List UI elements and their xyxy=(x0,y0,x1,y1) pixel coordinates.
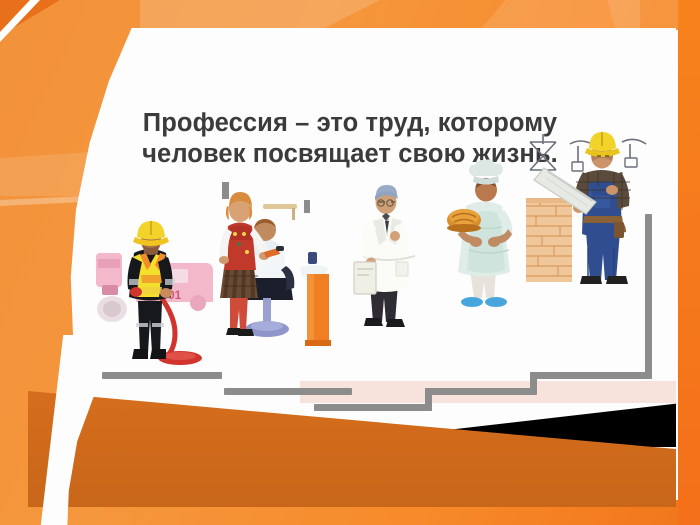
figure-baker xyxy=(436,162,540,320)
figure-hairdresser xyxy=(208,182,348,354)
figure-doctor xyxy=(336,176,446,338)
step-tread-3 xyxy=(314,404,432,411)
shelf xyxy=(263,204,297,209)
firefighter-body xyxy=(128,221,176,359)
professions-illustration: 01 xyxy=(96,196,666,406)
right-orange-strip xyxy=(678,0,700,525)
step-tread-2 xyxy=(224,388,352,395)
step-tread-4 xyxy=(425,388,537,395)
bread-loaf xyxy=(447,209,481,232)
presentation-slide: Профессия – это труд, которому человек п… xyxy=(0,0,700,525)
wall-fixture-1 xyxy=(222,182,229,199)
doctor-body xyxy=(354,185,415,327)
title-line-1: Профессия – это труд, которому xyxy=(143,109,557,137)
step-tread-5 xyxy=(530,372,652,379)
wall-fixture-2 xyxy=(304,200,310,213)
step-tread-1 xyxy=(102,372,222,379)
baker-body xyxy=(447,160,512,308)
salon-cabinet xyxy=(300,252,331,346)
doctor-folder xyxy=(354,262,376,294)
brick-stack xyxy=(526,198,572,282)
figure-builder xyxy=(526,128,656,304)
